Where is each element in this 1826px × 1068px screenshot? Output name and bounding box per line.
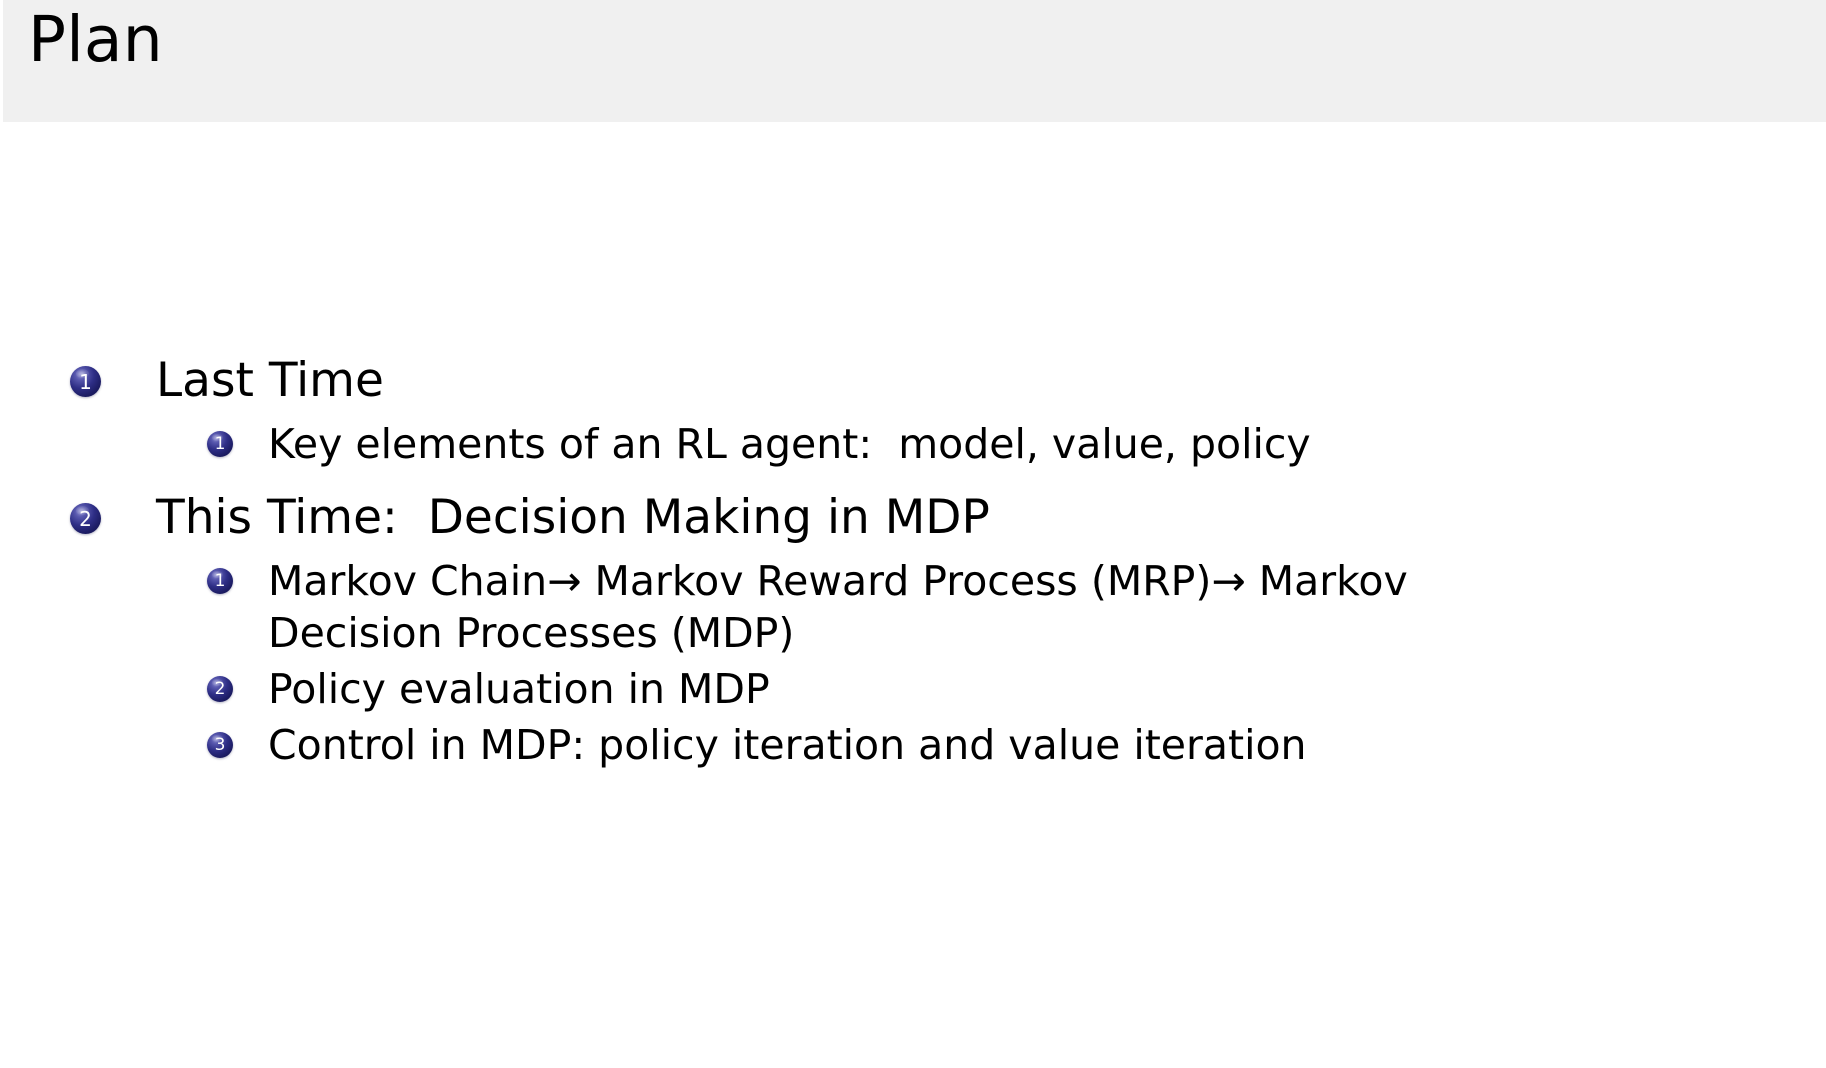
presentation-slide: Plan 1 Last Time 1 bbox=[0, 0, 1826, 1068]
outline-item-level2: 2 Policy evaluation in MDP bbox=[207, 663, 1810, 715]
page-title: Plan bbox=[28, 8, 163, 71]
enumerate-ball-number: 1 bbox=[215, 436, 226, 453]
outline-subitem-label: Control in MDP: policy iteration and val… bbox=[268, 719, 1307, 771]
enumerate-ball-number: 2 bbox=[79, 509, 92, 529]
enumerate-ball-icon: 1 bbox=[70, 366, 101, 397]
outline-sublist: 1 Key elements of an RL agent: model, va… bbox=[207, 418, 1810, 470]
enumerate-ball-icon: 1 bbox=[207, 431, 233, 457]
enumerate-ball-number: 2 bbox=[215, 681, 226, 698]
enumerate-ball-icon: 1 bbox=[207, 568, 233, 594]
enumerate-ball-icon: 2 bbox=[70, 503, 101, 534]
outline-list: 1 Last Time 1 Key elements of an RL agen… bbox=[70, 352, 1810, 771]
enumerate-ball-number: 3 bbox=[215, 737, 226, 754]
outline-item-level2: 3 Control in MDP: policy iteration and v… bbox=[207, 719, 1810, 771]
outline-item-level1: 1 Last Time 1 Key elements of an RL agen… bbox=[70, 352, 1810, 470]
slide-title-bar: Plan bbox=[3, 0, 1826, 122]
enumerate-ball-icon: 3 bbox=[207, 732, 233, 758]
outline-item-label: This Time: Decision Making in MDP bbox=[156, 489, 990, 547]
list-spacer bbox=[70, 470, 1810, 489]
outline-subitem-label: Policy evaluation in MDP bbox=[268, 663, 770, 715]
outline-item-label: Last Time bbox=[156, 352, 384, 410]
enumerate-ball-number: 1 bbox=[215, 573, 226, 590]
outline-item-level2: 1 Key elements of an RL agent: model, va… bbox=[207, 418, 1810, 470]
outline-subitem-label: Key elements of an RL agent: model, valu… bbox=[268, 418, 1311, 470]
slide-body: 1 Last Time 1 Key elements of an RL agen… bbox=[0, 122, 1826, 1068]
outline-sublist: 1 Markov Chain→ Markov Reward Process (M… bbox=[207, 555, 1810, 771]
enumerate-ball-icon: 2 bbox=[207, 676, 233, 702]
outline-item-level1: 2 This Time: Decision Making in MDP 1 Ma… bbox=[70, 489, 1810, 771]
outline-subitem-label: Markov Chain→ Markov Reward Process (MRP… bbox=[268, 555, 1593, 659]
enumerate-ball-number: 1 bbox=[79, 372, 92, 392]
outline-item-level2: 1 Markov Chain→ Markov Reward Process (M… bbox=[207, 555, 1810, 659]
